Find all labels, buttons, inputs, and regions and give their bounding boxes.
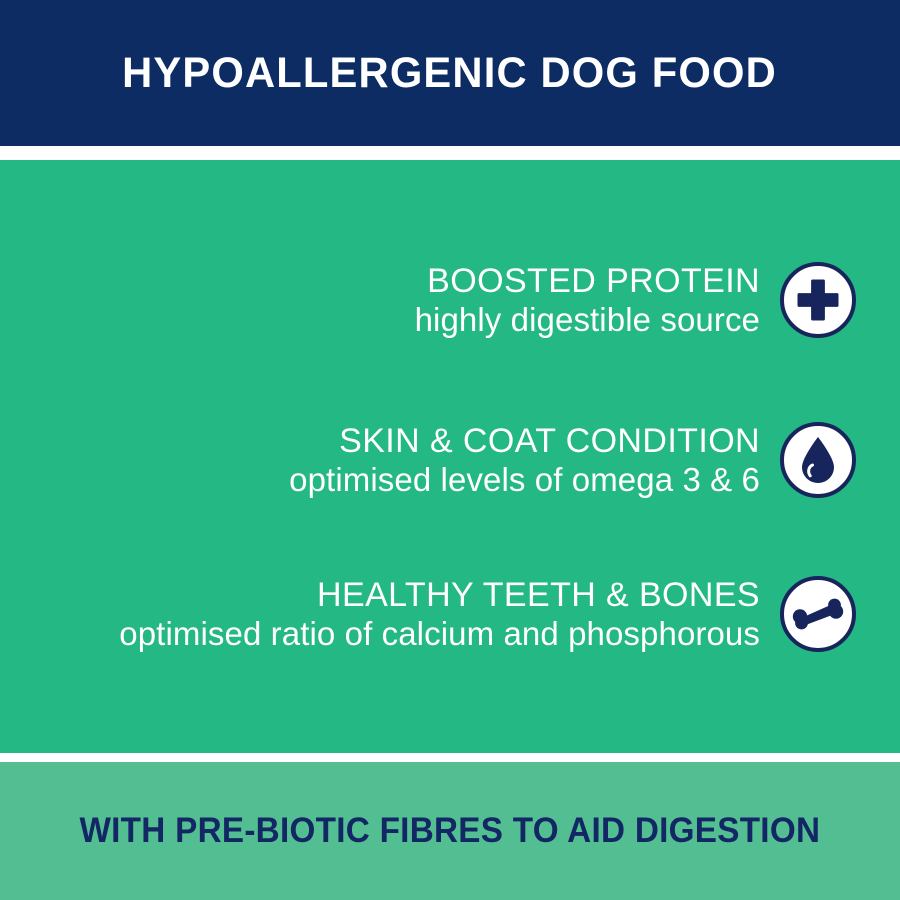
medical-cross-icon	[780, 262, 856, 338]
feature-text-group: BOOSTED PROTEIN highly digestible source	[415, 264, 780, 336]
feature-row: HEALTHY TEETH & BONES optimised ratio of…	[0, 566, 900, 662]
header-band: HYPOALLERGENIC DOG FOOD	[0, 0, 900, 146]
feature-title: BOOSTED PROTEIN	[415, 264, 760, 298]
feature-title: SKIN & COAT CONDITION	[289, 424, 760, 458]
feature-subtitle: optimised ratio of calcium and phosphoro…	[119, 617, 760, 650]
infographic-page: HYPOALLERGENIC DOG FOOD BOOSTED PROTEIN …	[0, 0, 900, 900]
feature-title: HEALTHY TEETH & BONES	[119, 578, 760, 612]
dog-bone-icon	[780, 576, 856, 652]
water-droplet-icon	[780, 422, 856, 498]
footer-tagline: WITH PRE-BIOTIC FIBRES TO AID DIGESTION	[80, 811, 821, 851]
feature-text-group: SKIN & COAT CONDITION optimised levels o…	[289, 424, 780, 496]
feature-row: BOOSTED PROTEIN highly digestible source	[0, 252, 900, 348]
feature-subtitle: highly digestible source	[415, 303, 760, 336]
feature-row: SKIN & COAT CONDITION optimised levels o…	[0, 412, 900, 508]
feature-text-group: HEALTHY TEETH & BONES optimised ratio of…	[119, 578, 780, 650]
page-title: HYPOALLERGENIC DOG FOOD	[123, 52, 778, 95]
footer-band: WITH PRE-BIOTIC FIBRES TO AID DIGESTION	[0, 762, 900, 900]
feature-subtitle: optimised levels of omega 3 & 6	[289, 463, 760, 496]
